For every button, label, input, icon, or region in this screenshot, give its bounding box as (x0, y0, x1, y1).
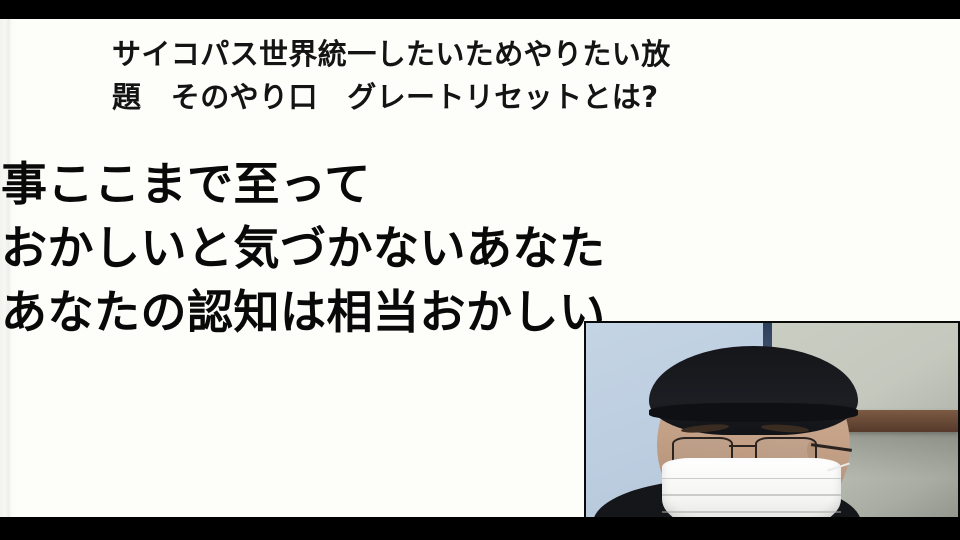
presentation-slide: サイコパス世界統一したいためやりたい放 題 そのやり口 グレートリセットとは? … (0, 19, 960, 517)
slide-body-line-3: あなたの認知は相当おかしい (1, 280, 641, 344)
video-player-screen: サイコパス世界統一したいためやりたい放 題 そのやり口 グレートリセットとは? … (0, 0, 960, 540)
slide-title-line-2: 題 そのやり口 グレートリセットとは? (112, 76, 802, 119)
subject-face-mask (662, 458, 841, 517)
webcam-overlay[interactable] (584, 321, 960, 517)
face-mask-pleat (662, 478, 841, 480)
slide-title-line-1: サイコパス世界統一したいためやりたい放 (112, 33, 802, 76)
slide-body-line-2: おかしいと気づかないあなた (1, 216, 641, 280)
subject-glasses-bridge (729, 445, 755, 447)
letterbox-bar-bottom (0, 517, 960, 540)
letterbox-bar-top (0, 0, 960, 19)
webcam-video-frame (586, 323, 958, 517)
subject-beanie-brim (649, 403, 857, 422)
slide-body-line-1: 事ここまで至って (1, 152, 641, 216)
slide-body-text: 事ここまで至って おかしいと気づかないあなた あなたの認知は相当おかしい (1, 152, 641, 344)
face-mask-pleat (662, 494, 841, 496)
slide-title: サイコパス世界統一したいためやりたい放 題 そのやり口 グレートリセットとは? (112, 33, 802, 119)
face-mask-pleat (662, 511, 841, 513)
